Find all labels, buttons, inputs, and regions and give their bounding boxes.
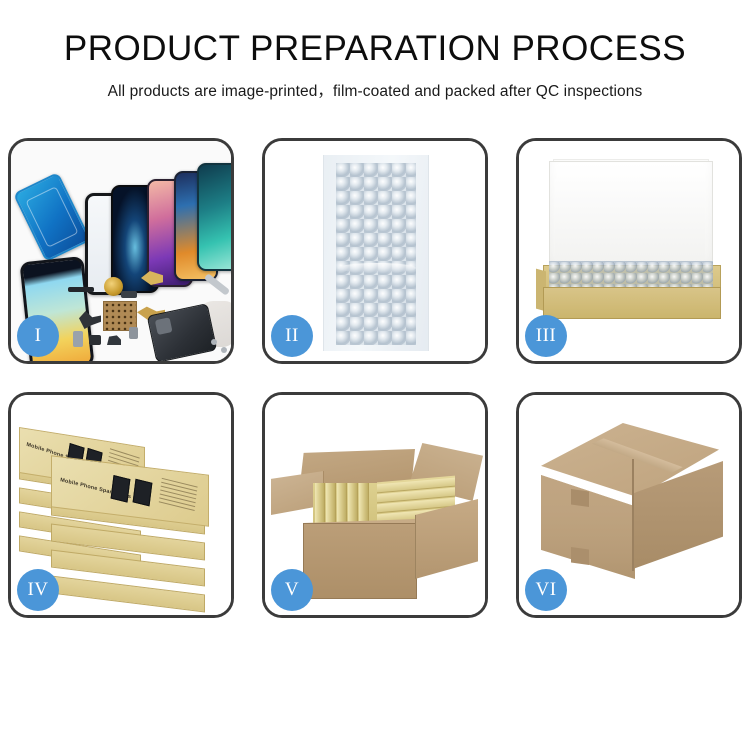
bubble-texture xyxy=(336,163,416,345)
small-part-1 xyxy=(73,331,83,347)
process-grid: I II III xyxy=(8,138,742,618)
carton-tab-upper xyxy=(571,489,589,507)
page-subtitle: All products are image-printed，film-coat… xyxy=(0,79,750,101)
box-front-panel xyxy=(543,287,721,319)
process-step-3: III xyxy=(516,138,742,364)
carton-corner-edge xyxy=(632,459,634,571)
carton-front-face xyxy=(303,523,417,599)
small-part-4 xyxy=(129,327,138,339)
pouch-fold xyxy=(338,263,416,273)
process-step-2: II xyxy=(262,138,488,364)
small-part-2 xyxy=(89,335,101,345)
carton-tab-lower xyxy=(571,547,589,565)
box-foam-liner xyxy=(555,179,705,265)
bubble-pouch xyxy=(323,155,429,351)
step-badge-6: VI xyxy=(525,569,567,611)
process-step-4: Mobile Phone Spare Parts Mobile Phone Sp… xyxy=(8,392,234,618)
step-badge-3: III xyxy=(525,315,567,357)
process-step-5: V xyxy=(262,392,488,618)
page-title: PRODUCT PREPARATION PROCESS xyxy=(0,30,750,69)
screw-1 xyxy=(211,339,217,345)
page-header: PRODUCT PREPARATION PROCESS All products… xyxy=(0,0,750,101)
box-bubble-contents xyxy=(549,261,713,288)
small-part-5 xyxy=(121,291,137,298)
step-badge-2: II xyxy=(271,315,313,357)
screw-2 xyxy=(221,347,227,353)
step-badge-4: IV xyxy=(17,569,59,611)
phone-screen-teal xyxy=(197,163,231,271)
process-step-6: VI xyxy=(516,392,742,618)
step-badge-1: I xyxy=(17,315,59,357)
process-step-1: I xyxy=(8,138,234,364)
earpiece-mesh-part xyxy=(68,287,94,292)
step-badge-5: V xyxy=(271,569,313,611)
